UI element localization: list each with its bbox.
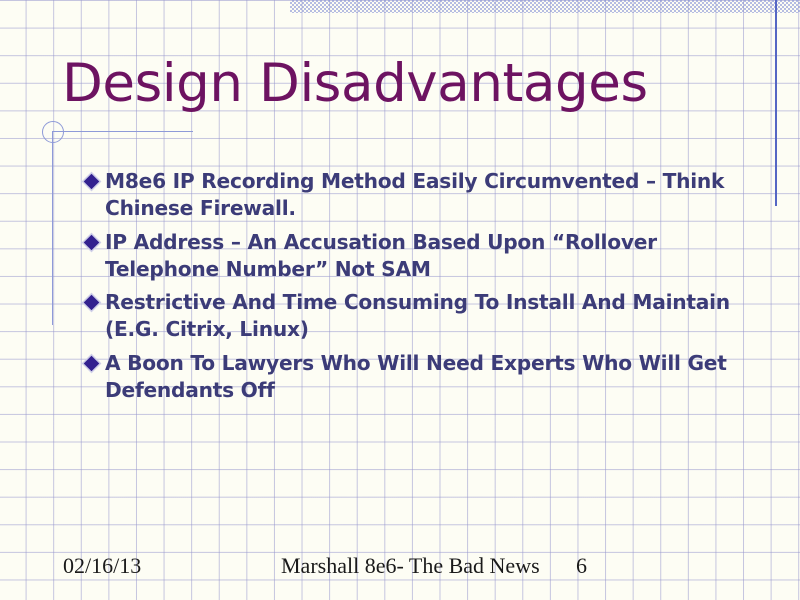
list-item-label: Restrictive And Time Consuming To Instal…	[105, 290, 730, 341]
list-item-label: M8e6 IP Recording Method Easily Circumve…	[105, 169, 724, 220]
list-item: M8e6 IP Recording Method Easily Circumve…	[84, 168, 756, 222]
checkered-band-decoration	[290, 0, 800, 13]
diamond-bullet-icon	[84, 174, 99, 189]
list-item: IP Address – An Accusation Based Upon “R…	[84, 229, 756, 283]
list-item: Restrictive And Time Consuming To Instal…	[84, 289, 756, 343]
list-item-label: IP Address – An Accusation Based Upon “R…	[105, 230, 657, 281]
footer-slide-number: 6	[576, 553, 587, 579]
left-vertical-rule	[52, 131, 53, 325]
slide-title: Design Disadvantages	[62, 56, 762, 112]
list-item: A Boon To Lawyers Who Will Need Experts …	[84, 350, 756, 404]
diamond-bullet-icon	[84, 356, 99, 371]
footer-title: Marshall 8e6- The Bad News	[281, 553, 540, 579]
vertical-accent-rule	[775, 0, 777, 206]
footer-date: 02/16/13	[63, 553, 141, 579]
circle-outline-decoration	[42, 121, 64, 143]
list-item-label: A Boon To Lawyers Who Will Need Experts …	[105, 351, 727, 402]
diamond-bullet-icon	[84, 295, 99, 310]
presentation-slide: Design Disadvantages M8e6 IP Recording M…	[0, 0, 800, 600]
slide-body-list: M8e6 IP Recording Method Easily Circumve…	[84, 168, 756, 411]
horizontal-title-rule	[52, 131, 193, 132]
diamond-bullet-icon	[84, 235, 99, 250]
